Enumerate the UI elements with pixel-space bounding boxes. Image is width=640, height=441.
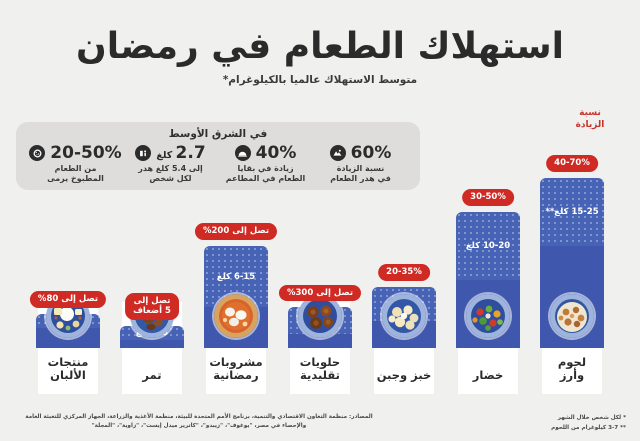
stat-item: 40%زيادة في بقاياالطعام في المطاعم xyxy=(218,143,313,184)
food-dome-icon xyxy=(235,145,251,161)
category-label: خبز وجبن xyxy=(366,369,442,382)
category-label: لحوموأرز xyxy=(534,356,610,382)
increase-badge: تصل إلى 300% xyxy=(279,285,361,302)
chart-column: 4-9 كلغ20-35%خبز وجبن xyxy=(366,196,442,394)
bread-cheese-icon xyxy=(382,294,426,338)
stat-value: 60% xyxy=(351,143,392,163)
sources-note: المصادر: منظمة التعاون الاقتصادي والتنمي… xyxy=(14,413,384,432)
middle-east-stats-panel: في الشرق الأوسط 20-50%من الطعامالمطبوخ ي… xyxy=(16,122,420,190)
stat-item: 2.7 كلغإلى 5.4 كلغ هدرلكل شخص xyxy=(123,143,218,184)
waste-bin-icon xyxy=(330,145,346,161)
stat-value: 20-50% xyxy=(50,143,121,163)
chart-column: 3-5 كلغتصل إلى 80%منتجاتالألبان xyxy=(30,196,106,394)
increase-badge: تصل إلى 200% xyxy=(195,223,277,240)
category-label: خضار xyxy=(450,369,526,382)
stats-panel-heading: في الشرق الأوسط xyxy=(24,128,412,140)
sources-line-1: المصادر: منظمة التعاون الاقتصادي والتنمي… xyxy=(14,413,384,423)
category-label: منتجاتالألبان xyxy=(30,356,106,382)
stat-item: 60%نسبة الزيادةفي هدر الطعام xyxy=(313,143,408,184)
chart-column: 2-6 كلغتصل إلى 300%حلوياتتقليدية xyxy=(282,196,358,394)
increase-badge: 40-70% xyxy=(546,155,598,172)
stat-value-row: 20-50% xyxy=(29,143,121,163)
stat-description: زيادة في بقاياالطعام في المطاعم xyxy=(226,164,305,184)
category-label: تمر xyxy=(114,369,190,382)
increase-badge: تصل إلى 80% xyxy=(30,291,106,308)
stat-value-row: 40% xyxy=(235,143,297,163)
stats-row: 20-50%من الطعامالمطبوخ يرمى2.7 كلغإلى 5.… xyxy=(24,143,412,184)
chart-column: 15-25 كلغ**40-70%لحوموأرز xyxy=(534,196,610,394)
footnotes: * لكل شخص خلال الشهر ** 3-7 كيلوغرام من … xyxy=(486,413,626,433)
footnote-meat: ** 3-7 كيلوغرام من اللحوم xyxy=(486,423,626,433)
stat-value-row: 60% xyxy=(330,143,392,163)
vegetables-bowl-icon xyxy=(466,294,510,338)
page-title: استهلاك الطعام في رمضان xyxy=(0,26,640,68)
bar-upper-segment: 15-25 كلغ** xyxy=(540,178,604,246)
increase-rate-caption: نسبةالزيادة xyxy=(552,108,628,131)
stat-unit: كلغ xyxy=(156,150,175,161)
category-label: مشروباترمضانية xyxy=(198,356,274,382)
chart-column: 1-3 كلغتصل إلى5 أضعافتمر xyxy=(114,196,190,394)
stat-value: 2.7 كلغ xyxy=(156,143,205,163)
infographic-page: استهلاك الطعام في رمضان متوسط الاستهلاك … xyxy=(0,0,640,441)
person-waste-icon xyxy=(135,145,151,161)
bar-range-label: 15-25 كلغ** xyxy=(545,207,598,217)
chart-column: 10-20 كلغ30-50%خضار xyxy=(450,196,526,394)
chart-column: 6-15 كلغتصل إلى 200%مشروباترمضانية xyxy=(198,196,274,394)
sources-line-2: والإحصاء في مصر، "يوغوف"، "زيبدو"، "كاتر… xyxy=(14,422,384,432)
increase-badge: 20-35% xyxy=(378,264,430,281)
trash-circle-icon xyxy=(29,145,45,161)
bar-lower-segment xyxy=(120,340,184,348)
category-label: حلوياتتقليدية xyxy=(282,356,358,382)
footnote-per-person: * لكل شخص خلال الشهر xyxy=(486,413,626,423)
stat-value: 40% xyxy=(256,143,297,163)
stat-description: نسبة الزيادةفي هدر الطعام xyxy=(330,164,391,184)
bar-range-label: 10-20 كلغ xyxy=(466,241,510,251)
bar-upper-segment: 10-20 كلغ xyxy=(456,212,520,280)
stat-value-row: 2.7 كلغ xyxy=(135,143,205,163)
bar-range-label: 6-15 كلغ xyxy=(217,272,255,282)
stat-description: من الطعامالمطبوخ يرمى xyxy=(47,164,104,184)
increase-badge: تصل إلى5 أضعاف xyxy=(125,293,179,320)
stat-description: إلى 5.4 كلغ هدرلكل شخص xyxy=(138,164,203,184)
footer: المصادر: منظمة التعاون الاقتصادي والتنمي… xyxy=(0,413,640,433)
stat-item: 20-50%من الطعامالمطبوخ يرمى xyxy=(28,143,123,184)
meat-rice-bowl-icon xyxy=(550,294,594,338)
page-subtitle: متوسط الاستهلاك عالميا بالكيلوغرام* xyxy=(0,74,640,86)
header: استهلاك الطعام في رمضان متوسط الاستهلاك … xyxy=(0,26,640,86)
increase-badge: 30-50% xyxy=(462,189,514,206)
ramadan-drink-icon xyxy=(214,294,258,338)
food-consumption-bar-chart: 3-5 كلغتصل إلى 80%منتجاتالألبان1-3 كلغتص… xyxy=(0,196,640,394)
